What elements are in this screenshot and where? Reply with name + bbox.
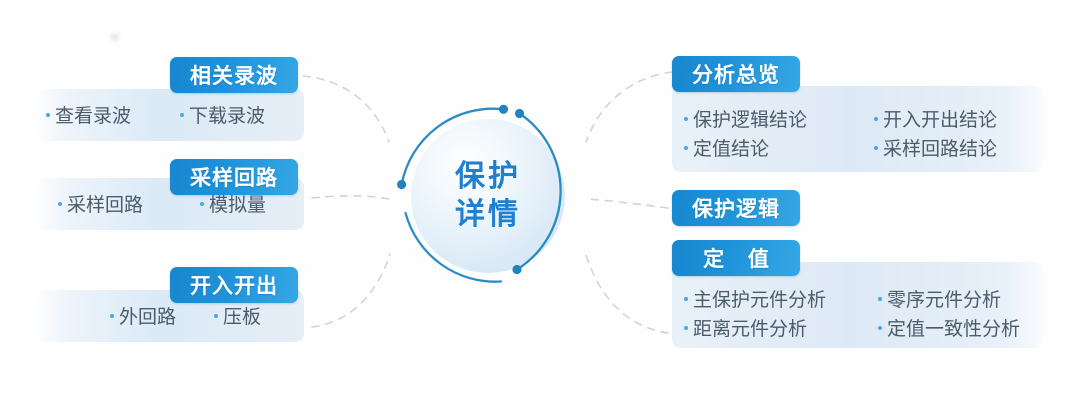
list-item[interactable]: 下载录波 — [180, 101, 296, 128]
list-item-label: 定值一致性分析 — [887, 314, 1020, 341]
list-item[interactable]: 主保护元件分析 — [684, 284, 878, 313]
list-item[interactable]: 距离元件分析 — [684, 313, 878, 342]
list-item[interactable]: 采样回路 — [58, 190, 200, 217]
list-item-label: 主保护元件分析 — [693, 285, 826, 312]
badge-baohuluoji[interactable]: 保护逻辑 — [672, 190, 800, 226]
bullet-icon — [684, 117, 688, 121]
center-hub[interactable]: 保护 详情 — [393, 101, 583, 291]
list-item[interactable]: 零序元件分析 — [878, 284, 1038, 313]
list-item-label: 查看录波 — [55, 101, 131, 128]
list-item[interactable]: 模拟量 — [200, 190, 300, 217]
badge-dingzhi[interactable]: 定 值 — [672, 240, 800, 276]
list-item-label: 外回路 — [119, 302, 176, 329]
list-item-label: 下载录波 — [189, 101, 265, 128]
badge-xiangguanlubo[interactable]: 相关录波 — [170, 57, 298, 93]
list-item[interactable]: 定值结论 — [684, 133, 874, 162]
bullet-icon — [200, 202, 204, 206]
list-item-label: 距离元件分析 — [693, 314, 807, 341]
list-item-label: 开入开出结论 — [883, 105, 997, 132]
bullet-icon — [110, 314, 114, 318]
hub-label-line-1: 保护 — [455, 158, 521, 196]
list-item-label: 保护逻辑结论 — [693, 105, 807, 132]
bullet-icon — [46, 113, 50, 117]
list-item[interactable]: 压板 — [214, 302, 294, 329]
diagram-canvas: 保护 详情 相关录波 查看录波 下载录波 采样回路 采样回路 — [0, 0, 1080, 417]
bullet-icon — [684, 297, 688, 301]
list-item-label: 零序元件分析 — [887, 285, 1001, 312]
bullet-icon — [878, 297, 882, 301]
bullet-icon — [58, 202, 62, 206]
bullet-icon — [684, 326, 688, 330]
list-item[interactable]: 定值一致性分析 — [878, 313, 1038, 342]
list-item[interactable]: 开入开出结论 — [874, 104, 1044, 133]
list-item[interactable]: 保护逻辑结论 — [684, 104, 874, 133]
bullet-icon — [878, 326, 882, 330]
bullet-icon — [214, 314, 218, 318]
bullet-icon — [874, 146, 878, 150]
list-item[interactable]: 查看录波 — [46, 101, 180, 128]
bullet-icon — [684, 146, 688, 150]
badge-fenxizonglan[interactable]: 分析总览 — [672, 56, 800, 92]
hub-label: 保护 详情 — [393, 101, 583, 291]
list-item-label: 模拟量 — [209, 190, 266, 217]
list-item-label: 压板 — [223, 302, 261, 329]
hub-label-line-2: 详情 — [455, 196, 521, 234]
list-item-label: 采样回路 — [67, 190, 143, 217]
bullet-icon — [874, 117, 878, 121]
list-item[interactable]: 采样回路结论 — [874, 133, 1044, 162]
badge-kairukaichu[interactable]: 开入开出 — [170, 267, 298, 303]
list-item-label: 采样回路结论 — [883, 134, 997, 161]
list-item-label: 定值结论 — [693, 134, 769, 161]
list-item[interactable]: 外回路 — [110, 302, 214, 329]
bullet-icon — [180, 113, 184, 117]
